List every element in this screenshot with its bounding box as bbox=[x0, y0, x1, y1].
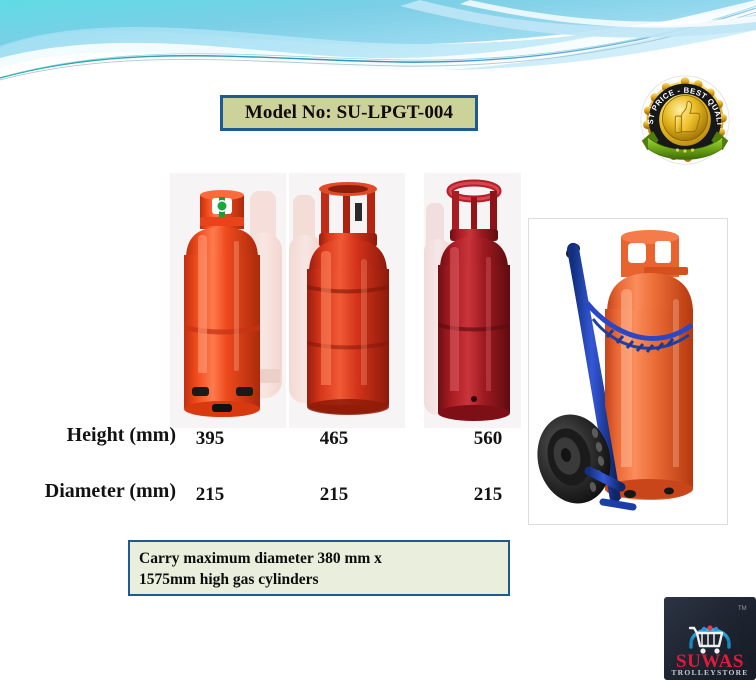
slide-canvas: Model No: SU-LPGT-004 bbox=[0, 0, 756, 680]
diameter-value-2: 215 bbox=[304, 484, 364, 506]
table-row: Height (mm) 395 465 560 bbox=[8, 424, 526, 468]
caption-line-1: Carry maximum diameter 380 mm x bbox=[139, 548, 499, 569]
model-number-box: Model No: SU-LPGT-004 bbox=[220, 95, 478, 131]
diameter-value-1: 215 bbox=[180, 484, 240, 506]
suwas-trolley-store-logo: TM SUWAS TROLLEYSTORE bbox=[664, 597, 756, 680]
height-value-2: 465 bbox=[304, 428, 364, 450]
caption-line-2: 1575mm high gas cylinders bbox=[139, 569, 499, 590]
height-value-1: 395 bbox=[180, 428, 240, 450]
trolley-toe-plate bbox=[603, 502, 633, 507]
row-header-diameter: Diameter (mm) bbox=[8, 480, 176, 503]
specification-table: Height (mm) 395 465 560 Diameter (mm) 21… bbox=[8, 424, 526, 526]
cylinder-image-1 bbox=[170, 173, 286, 428]
diameter-value-3: 215 bbox=[458, 484, 518, 506]
best-price-best-quality-badge: BEST PRICE - BEST QUALITY bbox=[638, 73, 732, 167]
logo-trademark: TM bbox=[738, 606, 747, 612]
height-value-3: 560 bbox=[458, 428, 518, 450]
row-header-height: Height (mm) bbox=[8, 424, 176, 447]
logo-tagline: TROLLEYSTORE bbox=[671, 668, 748, 677]
table-row: Diameter (mm) 215 215 215 bbox=[8, 480, 526, 524]
capacity-caption-box: Carry maximum diameter 380 mm x 1575mm h… bbox=[128, 540, 510, 596]
cylinder-body-2 bbox=[307, 182, 389, 415]
cylinder-image-2 bbox=[289, 173, 405, 428]
cylinder-image-3 bbox=[424, 173, 521, 428]
model-number-label: Model No: SU-LPGT-004 bbox=[245, 102, 453, 124]
gas-cylinder-trolley-photo bbox=[528, 218, 728, 525]
cylinder-body-3 bbox=[438, 183, 510, 421]
cylinder-body-1 bbox=[184, 190, 260, 417]
